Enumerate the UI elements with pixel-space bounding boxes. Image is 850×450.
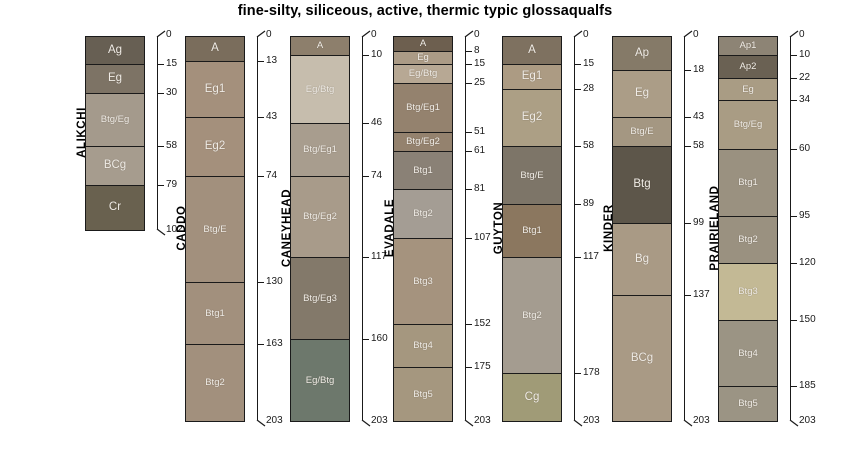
depth-tick-label: 203 bbox=[474, 416, 491, 426]
horizon-label: A bbox=[528, 45, 536, 57]
horizon-label: Eg bbox=[417, 53, 429, 63]
horizon-band: Btg/E bbox=[613, 118, 671, 147]
depth-tick bbox=[790, 55, 797, 56]
depth-axis bbox=[257, 36, 258, 420]
horizon-band: Eg/Btg bbox=[394, 65, 452, 84]
horizon-label: Btg5 bbox=[413, 390, 433, 400]
horizon-label: Btg/Eg1 bbox=[303, 145, 337, 155]
depth-tick bbox=[257, 117, 264, 118]
horizon-band: Eg/Btg bbox=[291, 56, 349, 124]
depth-tick-label: 22 bbox=[799, 73, 810, 83]
depth-tick-label: 152 bbox=[474, 319, 491, 329]
horizon-label: Eg2 bbox=[522, 112, 542, 124]
depth-tick-leader bbox=[362, 419, 371, 426]
horizon-band: A bbox=[503, 37, 561, 65]
depth-tick bbox=[684, 117, 691, 118]
horizon-label: A bbox=[420, 39, 426, 49]
depth-tick bbox=[257, 282, 264, 283]
depth-tick-label: 58 bbox=[583, 141, 594, 151]
horizon-label: Btg2 bbox=[205, 378, 225, 388]
horizon-label: Ap1 bbox=[740, 41, 757, 51]
horizon-label: Eg1 bbox=[522, 71, 542, 83]
depth-tick-leader bbox=[790, 30, 799, 37]
horizon-band: Btg1 bbox=[186, 283, 244, 345]
depth-tick-label: 15 bbox=[583, 59, 594, 69]
depth-tick bbox=[684, 295, 691, 296]
horizon-band: Btg/Eg bbox=[719, 101, 777, 150]
horizon-band: Btg bbox=[613, 147, 671, 224]
horizon-band: Btg5 bbox=[719, 387, 777, 421]
depth-tick bbox=[157, 93, 164, 94]
horizon-band: Btg3 bbox=[394, 239, 452, 325]
horizon-band: Btg1 bbox=[719, 150, 777, 217]
depth-tick-label: 185 bbox=[799, 381, 816, 391]
horizon-label: Eg/Btg bbox=[409, 69, 438, 79]
horizon-band: Btg2 bbox=[394, 190, 452, 239]
depth-tick-label: 28 bbox=[583, 84, 594, 94]
depth-tick bbox=[574, 204, 581, 205]
depth-tick-leader bbox=[684, 419, 693, 426]
depth-tick bbox=[157, 146, 164, 147]
depth-tick bbox=[257, 61, 264, 62]
horizon-label: Btg/Eg2 bbox=[303, 212, 337, 222]
depth-axis bbox=[790, 36, 791, 420]
depth-tick-label: 95 bbox=[799, 211, 810, 221]
depth-tick-leader bbox=[465, 419, 474, 426]
horizon-band: Eg1 bbox=[186, 62, 244, 118]
depth-tick bbox=[465, 132, 472, 133]
depth-tick-label: 25 bbox=[474, 78, 485, 88]
depth-tick bbox=[362, 257, 369, 258]
depth-tick bbox=[574, 373, 581, 374]
depth-axis bbox=[362, 36, 363, 420]
horizon-label: Btg2 bbox=[413, 209, 433, 219]
horizon-label: Btg/E bbox=[203, 225, 226, 235]
horizon-label: Eg1 bbox=[205, 84, 225, 96]
profile-column-prairieland: Ap1Ap2EgBtg/EgBtg1Btg2Btg3Btg4Btg5 bbox=[718, 36, 778, 422]
depth-tick-label: 99 bbox=[693, 218, 704, 228]
depth-tick-label: 203 bbox=[693, 416, 710, 426]
depth-tick bbox=[790, 100, 797, 101]
depth-tick-label: 107 bbox=[474, 233, 491, 243]
depth-tick-label: 0 bbox=[693, 30, 699, 40]
horizon-label: Cr bbox=[109, 202, 121, 214]
depth-tick-label: 13 bbox=[266, 56, 277, 66]
depth-tick-leader bbox=[157, 228, 166, 235]
horizon-label: Btg/Eg bbox=[734, 120, 763, 130]
depth-tick bbox=[790, 78, 797, 79]
horizon-band: Ap1 bbox=[719, 37, 777, 56]
depth-tick-label: 0 bbox=[799, 30, 805, 40]
depth-tick-label: 46 bbox=[371, 118, 382, 128]
horizon-label: Btg4 bbox=[413, 341, 433, 351]
depth-tick-label: 61 bbox=[474, 146, 485, 156]
depth-tick bbox=[574, 89, 581, 90]
horizon-band: Ap bbox=[613, 37, 671, 71]
horizon-label: Bg bbox=[635, 254, 649, 266]
horizon-band: A bbox=[291, 37, 349, 56]
depth-tick bbox=[465, 189, 472, 190]
horizon-band: BCg bbox=[613, 296, 671, 421]
horizon-label: Btg/Eg2 bbox=[406, 137, 440, 147]
depth-tick-label: 43 bbox=[693, 112, 704, 122]
horizon-band: Btg/Eg1 bbox=[394, 84, 452, 133]
horizon-band: Btg2 bbox=[186, 345, 244, 421]
depth-tick bbox=[574, 64, 581, 65]
depth-tick bbox=[465, 367, 472, 368]
depth-tick-label: 51 bbox=[474, 127, 485, 137]
depth-tick bbox=[465, 64, 472, 65]
profile-column-kinder: ApEgBtg/EBtgBgBCg bbox=[612, 36, 672, 422]
horizon-band: Ag bbox=[86, 37, 144, 65]
depth-tick bbox=[790, 216, 797, 217]
depth-tick-label: 60 bbox=[799, 144, 810, 154]
depth-tick-leader bbox=[574, 419, 583, 426]
horizon-label: Btg/Eg bbox=[101, 115, 130, 125]
horizon-band: Eg/Btg bbox=[291, 340, 349, 421]
horizon-label: Btg4 bbox=[738, 349, 758, 359]
horizon-label: Btg1 bbox=[205, 309, 225, 319]
depth-tick bbox=[157, 185, 164, 186]
horizon-label: Eg/Btg bbox=[306, 376, 335, 386]
horizon-band: Eg bbox=[719, 79, 777, 101]
depth-tick bbox=[465, 51, 472, 52]
horizon-band: Btg/Eg3 bbox=[291, 258, 349, 340]
horizon-label: Btg1 bbox=[522, 226, 542, 236]
horizon-label: Btg3 bbox=[738, 287, 758, 297]
horizon-label: Btg1 bbox=[413, 166, 433, 176]
depth-tick bbox=[465, 324, 472, 325]
horizon-label: Eg bbox=[635, 88, 649, 100]
depth-tick-leader bbox=[362, 30, 371, 37]
depth-tick-label: 74 bbox=[266, 171, 277, 181]
horizon-band: Btg/E bbox=[503, 147, 561, 205]
depth-tick-label: 34 bbox=[799, 95, 810, 105]
profile-column-alikchi: AgEgBtg/EgBCgCr bbox=[85, 36, 145, 231]
horizon-label: Ap2 bbox=[740, 62, 757, 72]
depth-tick-label: 81 bbox=[474, 184, 485, 194]
depth-tick-label: 43 bbox=[266, 112, 277, 122]
horizon-label: BCg bbox=[631, 353, 653, 365]
horizon-band: Btg5 bbox=[394, 368, 452, 421]
horizon-band: Btg/Eg2 bbox=[394, 133, 452, 152]
depth-tick bbox=[790, 386, 797, 387]
horizon-label: Ap bbox=[635, 48, 649, 60]
depth-tick-leader bbox=[157, 30, 166, 37]
depth-tick-label: 178 bbox=[583, 368, 600, 378]
horizon-label: Cg bbox=[525, 392, 540, 404]
horizon-band: Eg bbox=[613, 71, 671, 118]
horizon-band: Btg1 bbox=[503, 205, 561, 258]
horizon-label: Btg/E bbox=[630, 127, 653, 137]
horizon-band: Eg2 bbox=[186, 118, 244, 177]
page-title: fine-silty, siliceous, active, thermic t… bbox=[0, 3, 850, 19]
depth-tick bbox=[684, 223, 691, 224]
depth-tick-label: 150 bbox=[799, 315, 816, 325]
horizon-band: Btg4 bbox=[719, 321, 777, 387]
depth-tick bbox=[684, 146, 691, 147]
depth-tick bbox=[362, 339, 369, 340]
horizon-band: Btg1 bbox=[394, 152, 452, 190]
depth-tick-label: 117 bbox=[583, 252, 599, 262]
depth-tick bbox=[362, 55, 369, 56]
horizon-label: BCg bbox=[104, 160, 126, 172]
horizon-band: Btg/Eg2 bbox=[291, 177, 349, 258]
depth-tick-label: 0 bbox=[474, 30, 480, 40]
horizon-label: Btg2 bbox=[738, 235, 758, 245]
horizon-label: Btg3 bbox=[413, 277, 433, 287]
horizon-label: Ag bbox=[108, 45, 122, 57]
depth-tick-leader bbox=[574, 30, 583, 37]
depth-tick-leader bbox=[684, 30, 693, 37]
horizon-label: Btg/E bbox=[520, 171, 543, 181]
depth-tick-label: 120 bbox=[799, 258, 816, 268]
depth-axis bbox=[465, 36, 466, 420]
horizon-label: Eg2 bbox=[205, 141, 225, 153]
horizon-label: Eg bbox=[742, 85, 754, 95]
horizon-band: Btg/E bbox=[186, 177, 244, 283]
depth-tick bbox=[362, 123, 369, 124]
depth-tick bbox=[574, 257, 581, 258]
depth-tick-label: 0 bbox=[266, 30, 272, 40]
horizon-label: Btg2 bbox=[522, 311, 542, 321]
horizon-label: Btg bbox=[633, 179, 650, 191]
horizon-band: Btg3 bbox=[719, 264, 777, 321]
horizon-label: Btg5 bbox=[738, 399, 758, 409]
depth-tick-leader bbox=[465, 30, 474, 37]
depth-tick-label: 18 bbox=[693, 65, 704, 75]
depth-tick bbox=[465, 83, 472, 84]
horizon-label: Btg/Eg3 bbox=[303, 294, 337, 304]
horizon-band: Bg bbox=[613, 224, 671, 296]
depth-tick bbox=[790, 263, 797, 264]
depth-tick-label: 10 bbox=[799, 50, 810, 60]
depth-tick bbox=[790, 149, 797, 150]
profile-column-caddo: AEg1Eg2Btg/EBtg1Btg2 bbox=[185, 36, 245, 422]
horizon-label: Eg/Btg bbox=[306, 85, 335, 95]
depth-tick-label: 8 bbox=[474, 46, 480, 56]
horizon-band: A bbox=[186, 37, 244, 62]
depth-tick-label: 137 bbox=[693, 290, 710, 300]
depth-tick-leader bbox=[257, 30, 266, 37]
horizon-band: Cg bbox=[503, 374, 561, 421]
horizon-band: Eg2 bbox=[503, 90, 561, 147]
depth-tick bbox=[790, 320, 797, 321]
depth-axis bbox=[684, 36, 685, 420]
depth-tick bbox=[257, 344, 264, 345]
horizon-band: Ap2 bbox=[719, 56, 777, 79]
depth-tick-label: 203 bbox=[799, 416, 816, 426]
horizon-label: Btg1 bbox=[738, 178, 758, 188]
depth-tick-label: 203 bbox=[583, 416, 600, 426]
horizon-band: Btg2 bbox=[503, 258, 561, 374]
horizon-band: A bbox=[394, 37, 452, 52]
horizon-label: A bbox=[317, 41, 323, 51]
depth-tick bbox=[574, 146, 581, 147]
depth-tick bbox=[465, 238, 472, 239]
horizon-band: Btg/Eg1 bbox=[291, 124, 349, 177]
horizon-band: Eg1 bbox=[503, 65, 561, 90]
depth-tick-label: 89 bbox=[583, 199, 594, 209]
profile-column-caneyhead: AEg/BtgBtg/Eg1Btg/Eg2Btg/Eg3Eg/Btg bbox=[290, 36, 350, 422]
depth-tick bbox=[257, 176, 264, 177]
depth-tick-label: 175 bbox=[474, 362, 491, 372]
depth-tick bbox=[465, 151, 472, 152]
depth-tick bbox=[157, 64, 164, 65]
depth-tick-label: 15 bbox=[474, 59, 485, 69]
horizon-band: Btg2 bbox=[719, 217, 777, 264]
horizon-label: Eg bbox=[108, 73, 122, 85]
horizon-band: Eg bbox=[394, 52, 452, 65]
horizon-band: Btg/Eg bbox=[86, 94, 144, 147]
depth-tick-leader bbox=[790, 419, 799, 426]
horizon-label: A bbox=[211, 43, 219, 55]
horizon-label: Btg/Eg1 bbox=[406, 103, 440, 113]
horizon-band: Btg4 bbox=[394, 325, 452, 368]
horizon-band: Eg bbox=[86, 65, 144, 94]
depth-tick-label: 0 bbox=[583, 30, 589, 40]
depth-tick-label: 58 bbox=[693, 141, 704, 151]
depth-tick bbox=[362, 176, 369, 177]
profile-column-evadale: AEgEg/BtgBtg/Eg1Btg/Eg2Btg1Btg2Btg3Btg4B… bbox=[393, 36, 453, 422]
depth-tick-leader bbox=[257, 419, 266, 426]
profile-column-guyton: AEg1Eg2Btg/EBtg1Btg2Cg bbox=[502, 36, 562, 422]
depth-axis bbox=[574, 36, 575, 420]
depth-tick-label: 74 bbox=[371, 171, 382, 181]
depth-tick-label: 0 bbox=[166, 30, 172, 40]
depth-tick bbox=[684, 70, 691, 71]
horizon-band: BCg bbox=[86, 147, 144, 186]
depth-tick-label: 0 bbox=[371, 30, 377, 40]
depth-tick-label: 10 bbox=[371, 50, 382, 60]
horizon-band: Cr bbox=[86, 186, 144, 230]
